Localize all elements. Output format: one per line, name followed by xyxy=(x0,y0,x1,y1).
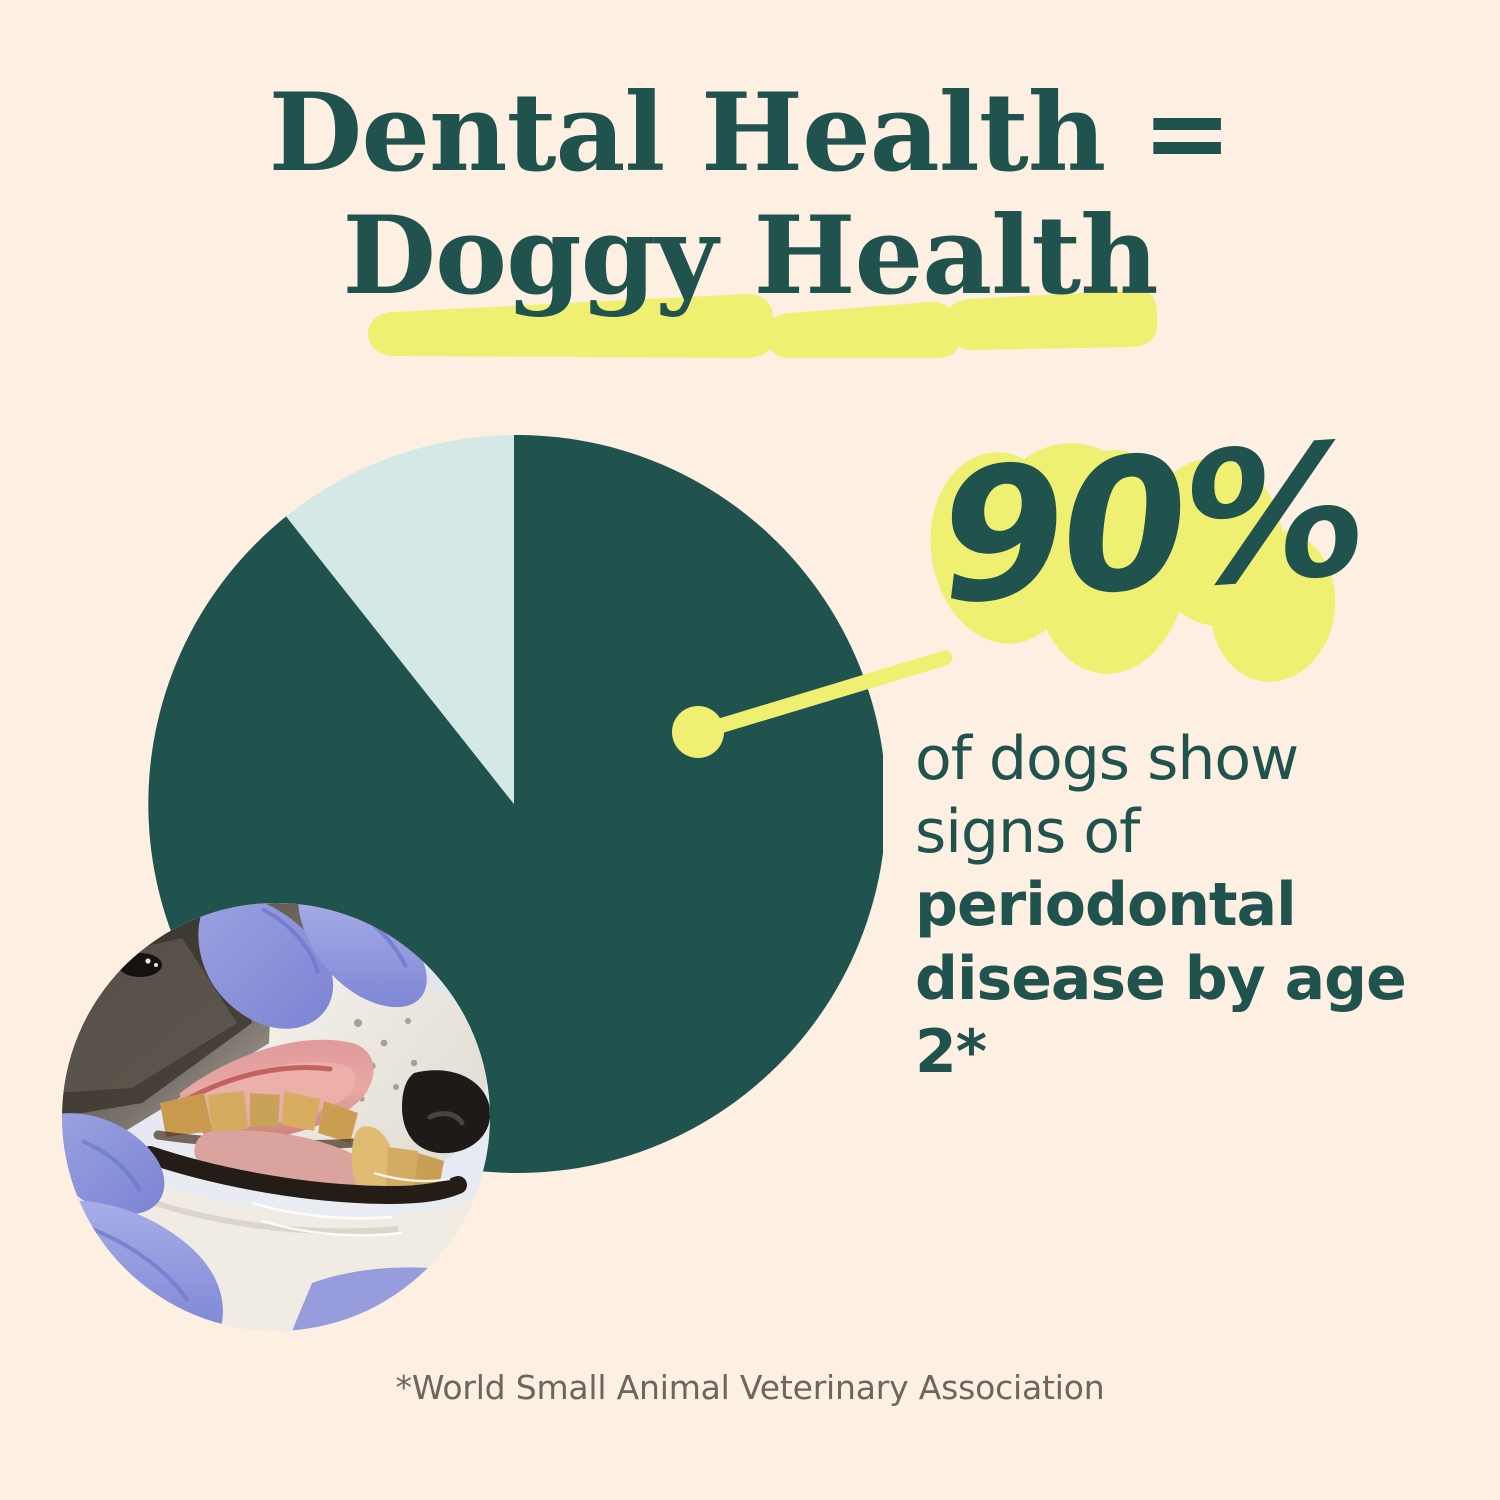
stat-description: of dogs show signs of periodontal diseas… xyxy=(915,723,1435,1089)
source-footnote: *World Small Animal Veterinary Associati… xyxy=(0,1368,1500,1407)
percent-value: 90% xyxy=(933,418,1368,629)
stat-callout: 90% of dogs show signs of periodontal di… xyxy=(915,430,1435,1089)
infographic-canvas: Dental Health = Doggy Health xyxy=(0,0,1500,1500)
stat-description-bold: periodontal disease by age 2* xyxy=(915,870,1406,1086)
percent-figure: 90% xyxy=(915,430,1435,695)
title-line-1: Dental Health = xyxy=(0,72,1500,195)
dog-dental-exam-photo xyxy=(62,903,490,1331)
stat-description-light: of dogs show signs of xyxy=(915,724,1298,867)
title-line-2: Doggy Health xyxy=(342,195,1157,318)
page-title: Dental Health = Doggy Health xyxy=(0,72,1500,318)
